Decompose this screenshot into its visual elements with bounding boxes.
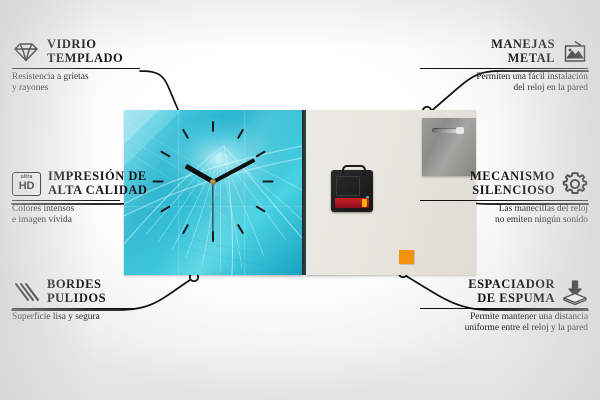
feature-title: ESPACIADOR DE ESPUMA [468, 278, 555, 305]
feature-description: Colores intensos e imagen vívida [12, 204, 162, 227]
feature-title: VIDRIO TEMPLADO [47, 38, 123, 65]
feature-header: BORDES PULIDOS [12, 278, 162, 305]
keyhole-slot [432, 128, 458, 133]
feature-rule [12, 68, 140, 69]
clock-center-hub [210, 179, 216, 185]
feature-title: IMPRESIÓN DE ALTA CALIDAD [48, 170, 147, 197]
down-arrow-pad-icon [562, 279, 588, 305]
feature-rule [420, 200, 588, 201]
feature-header: ESPACIADOR DE ESPUMA [420, 278, 588, 305]
feature-header: MANEJAS METAL [420, 38, 588, 65]
feature-description: Permite mantener una distancia uniforme … [420, 312, 588, 335]
feature-title: MECANISMO SILENCIOSO [470, 170, 555, 197]
feature-manejas-metal: MANEJAS METAL Permiten una fácil instala… [420, 38, 588, 95]
feature-title: BORDES PULIDOS [47, 278, 106, 305]
feature-bordes-pulidos: BORDES PULIDOS Superficie lisa y segura [12, 278, 162, 323]
diamond-icon [12, 41, 40, 63]
gear-icon [562, 171, 588, 197]
feature-header: MECANISMO SILENCIOSO [420, 170, 588, 197]
feature-impresion-alta-calidad: ultra HD IMPRESIÓN DE ALTA CALIDAD Color… [12, 170, 162, 227]
ultra-hd-icon: ultra HD [12, 172, 41, 196]
feature-mecanismo-silencioso: MECANISMO SILENCIOSO Las manecillas del … [420, 170, 588, 227]
ultra-hd-icon-large-text: HD [19, 181, 35, 192]
mechanism-bail [342, 165, 366, 175]
feature-header: VIDRIO TEMPLADO [12, 38, 162, 65]
feature-description: Superficie lisa y segura [12, 312, 162, 323]
clock-mechanism [331, 170, 373, 212]
product-infographic: VIDRIO TEMPLADO Resistencia a grietas y … [0, 0, 600, 400]
feature-description: Las manecillas del reloj no emiten ningú… [420, 204, 588, 227]
feature-description: Resistencia a grietas y rayones [12, 72, 162, 95]
battery [335, 198, 369, 208]
wall-frame-icon [562, 40, 588, 64]
mechanism-plate [336, 176, 360, 196]
feature-vidrio-templado: VIDRIO TEMPLADO Resistencia a grietas y … [12, 38, 162, 95]
feature-rule [420, 68, 588, 69]
foam-spacer [399, 250, 414, 264]
feature-rule [420, 308, 588, 309]
feature-espaciador-de-espuma: ESPACIADOR DE ESPUMA Permite mantener un… [420, 278, 588, 335]
feature-rule [12, 308, 140, 309]
feature-title: MANEJAS METAL [491, 38, 555, 65]
polished-edges-icon [12, 281, 40, 303]
feature-description: Permiten una fácil instalación del reloj… [420, 72, 588, 95]
metal-hanger-plate [422, 118, 476, 176]
feature-rule [12, 200, 120, 201]
feature-header: ultra HD IMPRESIÓN DE ALTA CALIDAD [12, 170, 162, 197]
